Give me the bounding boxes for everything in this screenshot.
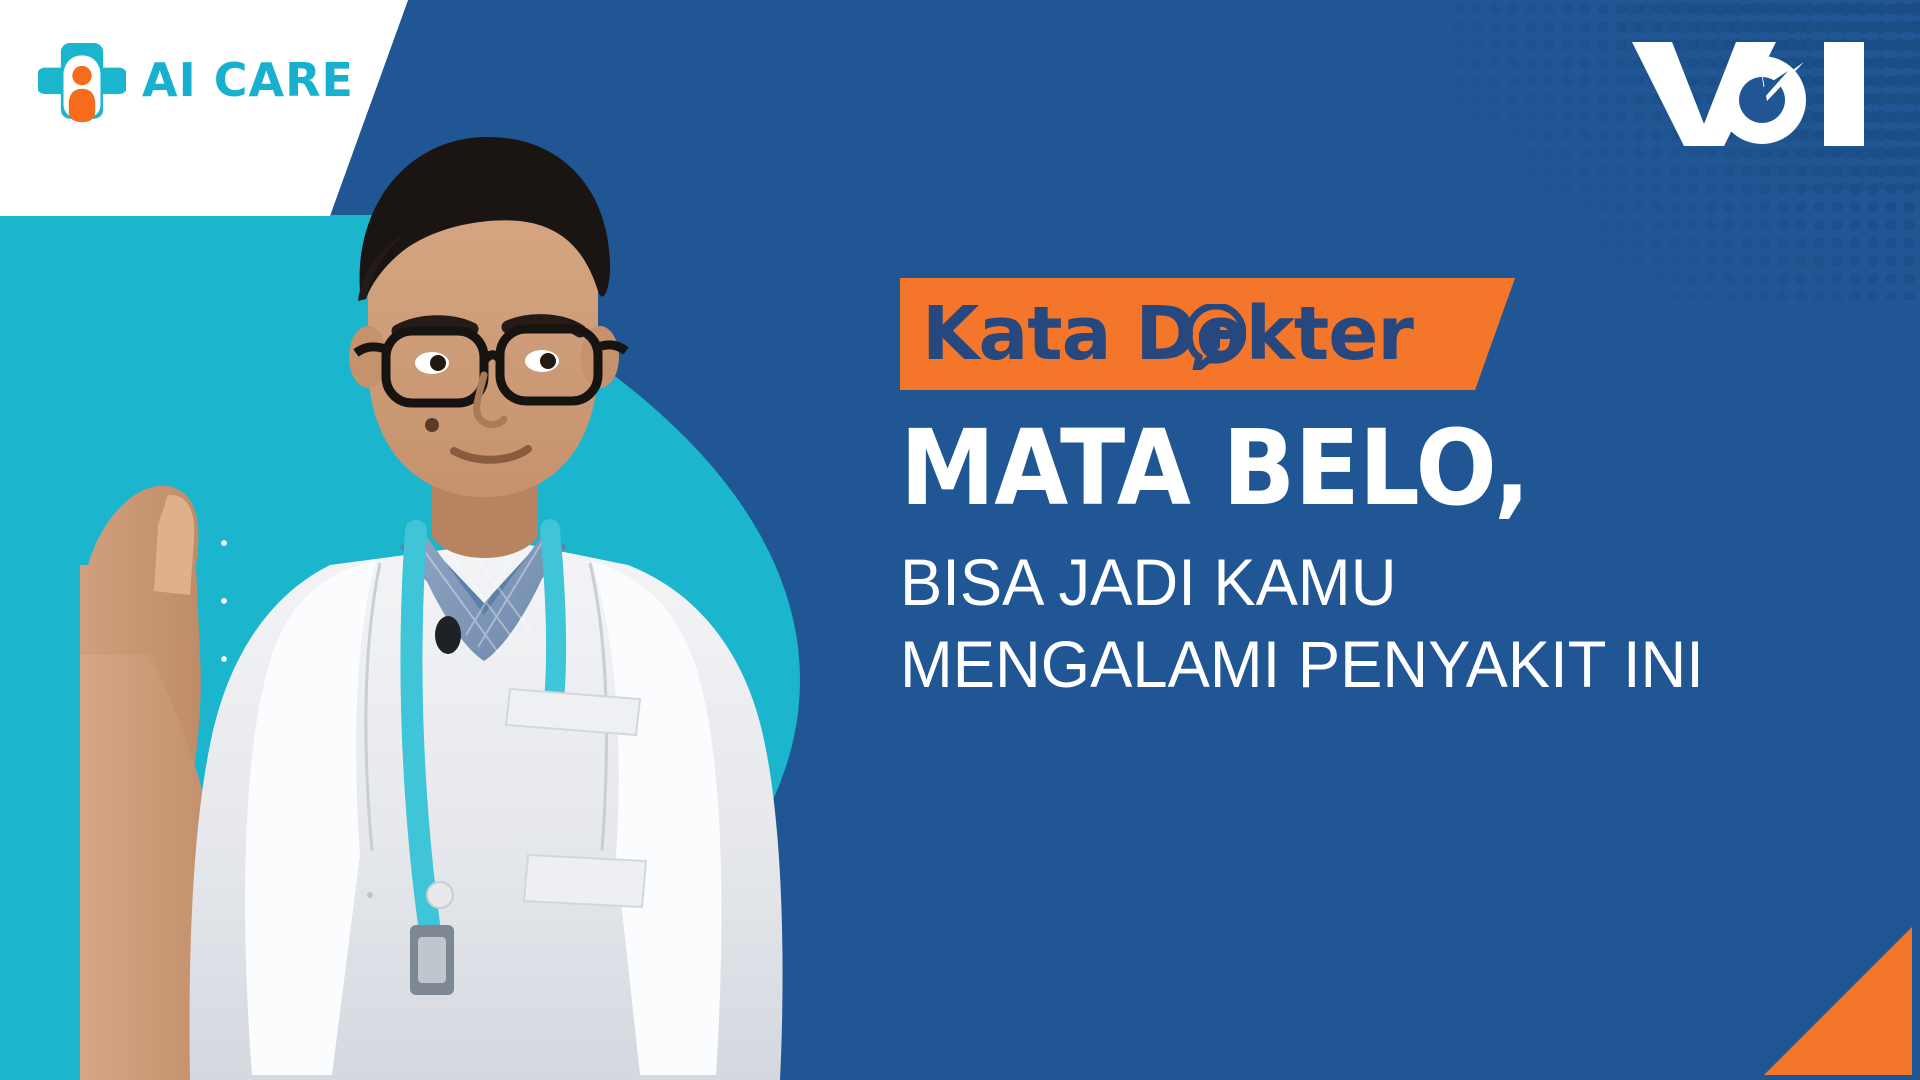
orange-corner-triangle <box>1764 927 1912 1075</box>
voi-logo[interactable] <box>1628 28 1878 148</box>
headline-line-1: MATA BELO, <box>900 416 1820 520</box>
kata-dokter-label: Kata Dokter <box>922 284 1413 384</box>
medical-cross-person-icon <box>38 36 126 124</box>
kata-dokter-badge: Kata Dokter <box>900 278 1515 390</box>
thumbnail-canvas: AI CARE Kata Dokter MATA BELO, BISA JADI… <box>0 0 1920 1080</box>
headline-line-3: MENGALAMI PENYAKIT INI <box>900 624 1860 704</box>
aicare-logo[interactable]: AI CARE <box>38 36 354 124</box>
title-block: Kata Dokter MATA BELO, BISA JADI KAMU ME… <box>900 278 1900 704</box>
speech-bubble-cross-icon <box>1186 304 1246 370</box>
doctor-portrait <box>80 95 910 1080</box>
headline-line-2: BISA JADI KAMU <box>900 542 1860 622</box>
aicare-wordmark: AI CARE <box>142 57 354 103</box>
